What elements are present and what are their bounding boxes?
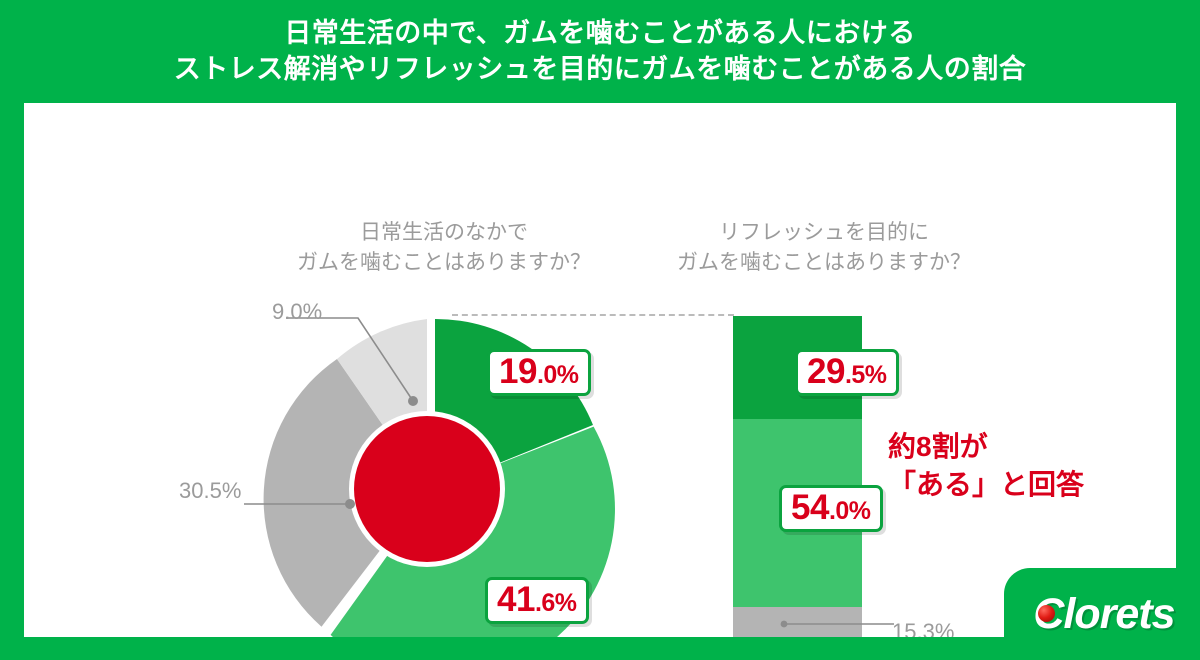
clorets-sphere-icon [1038,605,1055,622]
pie-badge-tamaniaru-decimal: .6% [535,591,577,616]
pie-center-circle [354,416,500,562]
pie-value-label-ichidomonai: 9.0% [272,299,322,325]
pie-chart-subtitle: 日常生活のなかで ガムを噛むことはありますか？ [264,218,624,279]
header-banner: 日常生活の中で、ガムを噛むことがある人における ストレス解消やリフレッシュを目的… [0,0,1200,103]
bar-chart-subtitle-line-2: ガムを噛むことはありますか？ [624,248,1024,278]
bar-badge-yokuaru-integer: 29 [807,354,845,389]
bar-badge-tamaniaru: 54 .0% [779,485,883,532]
bar-badge-yokuaru: 29 .5% [795,349,899,396]
pie-chart-subtitle-line-2: ガムを噛むことはありますか？ [264,248,624,278]
pie-value-label-hotondonai: 30.5% [179,478,241,504]
bar-annotation-line-2: 「ある」と回答 [888,466,1084,504]
leader-dot-bar-hotondonai [781,621,788,628]
bar-badge-tamaniaru-decimal: .0% [829,499,871,524]
bar-badge-yokuaru-decimal: .5% [845,363,887,388]
pie-badge-yokuaru-integer: 19 [499,354,537,389]
bar-annotation: 約8割が 「ある」と回答 [888,428,1084,504]
clorets-logo: Clorets [1004,568,1200,660]
pie-badge-yokuaru: 19 .0% [487,349,591,396]
bar-value-label-hotondonai: 15.3% [892,619,954,637]
clorets-wordmark: Clorets [1029,590,1174,639]
pie-badge-yokuaru-decimal: .0% [537,363,579,388]
pie-badge-tamaniaru: 41 .6% [485,577,589,624]
pie-badge-tamaniaru-integer: 41 [497,582,535,617]
pie-chart-subtitle-line-1: 日常生活のなかで [264,218,624,248]
bar-badge-tamaniaru-integer: 54 [791,490,829,525]
header-title-line-2: ストレス解消やリフレッシュを目的にガムを噛むことがある人の割合 [174,52,1027,88]
leader-dot-ichidomonai [408,396,418,406]
bar-chart-subtitle: リフレッシュを目的に ガムを噛むことはありますか？ [624,218,1024,279]
bar-chart-subtitle-line-1: リフレッシュを目的に [624,218,1024,248]
bar-annotation-line-1: 約8割が [888,428,1084,466]
leader-dot-hotondonai [345,499,355,509]
header-title-line-1: 日常生活の中で、ガムを噛むことがある人における [284,16,915,52]
content-card: 日常生活のなかで ガムを噛むことはありますか？ リフレッシュを目的に ガムを噛む… [24,103,1176,637]
